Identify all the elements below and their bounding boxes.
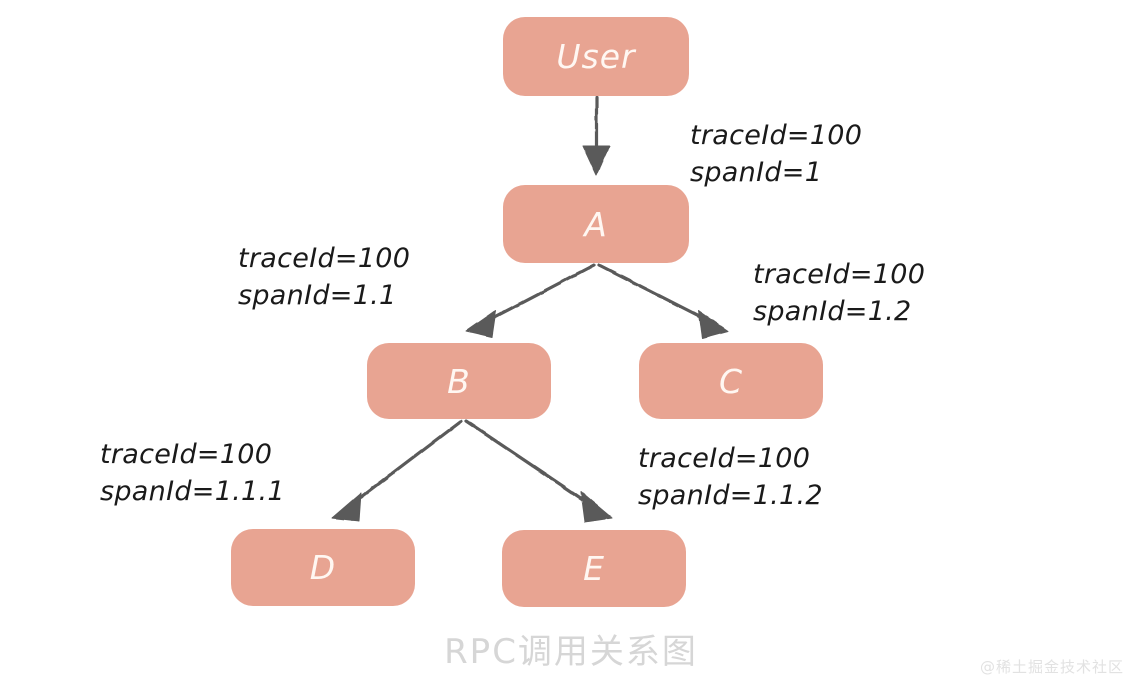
rpc-call-relationship-diagram: User A B C D E traceId=100 spanId=1 trac… — [0, 0, 1142, 689]
edge-label-b-d: traceId=100 spanId=1.1.1 — [100, 436, 285, 511]
edge-label-user-a-span: spanId=1 — [690, 154, 862, 191]
edge-label-a-c-span: spanId=1.2 — [753, 293, 925, 330]
node-c[interactable]: C — [639, 343, 823, 419]
edge-label-b-d-span: spanId=1.1.1 — [100, 473, 285, 510]
node-d-label: D — [310, 548, 336, 587]
node-user-label: User — [556, 37, 635, 76]
edge-b-d — [332, 421, 461, 521]
node-d[interactable]: D — [231, 529, 415, 606]
edge-label-user-a: traceId=100 spanId=1 — [690, 117, 862, 192]
edge-label-b-e-trace: traceId=100 — [638, 440, 823, 477]
edge-label-b-e: traceId=100 spanId=1.1.2 — [638, 440, 823, 515]
edge-label-b-e-span: spanId=1.1.2 — [638, 477, 823, 514]
edge-label-a-c-trace: traceId=100 — [753, 256, 925, 293]
node-a[interactable]: A — [503, 185, 689, 263]
edge-label-a-c: traceId=100 spanId=1.2 — [753, 256, 925, 331]
edge-label-a-b-trace: traceId=100 — [238, 240, 410, 277]
edge-label-a-b-span: spanId=1.1 — [238, 277, 410, 314]
edge-user-a — [583, 98, 610, 175]
edge-label-b-d-trace: traceId=100 — [100, 436, 285, 473]
node-e[interactable]: E — [502, 530, 686, 607]
node-user[interactable]: User — [503, 17, 689, 96]
edge-a-c — [599, 265, 728, 338]
edge-label-a-b: traceId=100 spanId=1.1 — [238, 240, 410, 315]
node-b[interactable]: B — [367, 343, 551, 419]
node-e-label: E — [583, 549, 605, 588]
diagram-caption: RPC调用关系图 — [0, 624, 1142, 673]
edge-label-user-a-trace: traceId=100 — [690, 117, 862, 154]
node-c-label: C — [719, 362, 743, 401]
node-b-label: B — [447, 362, 471, 401]
node-a-label: A — [584, 205, 608, 244]
watermark: @稀土掘金技术社区 — [980, 656, 1124, 677]
edge-b-e — [466, 421, 612, 522]
edge-a-b — [466, 265, 594, 337]
